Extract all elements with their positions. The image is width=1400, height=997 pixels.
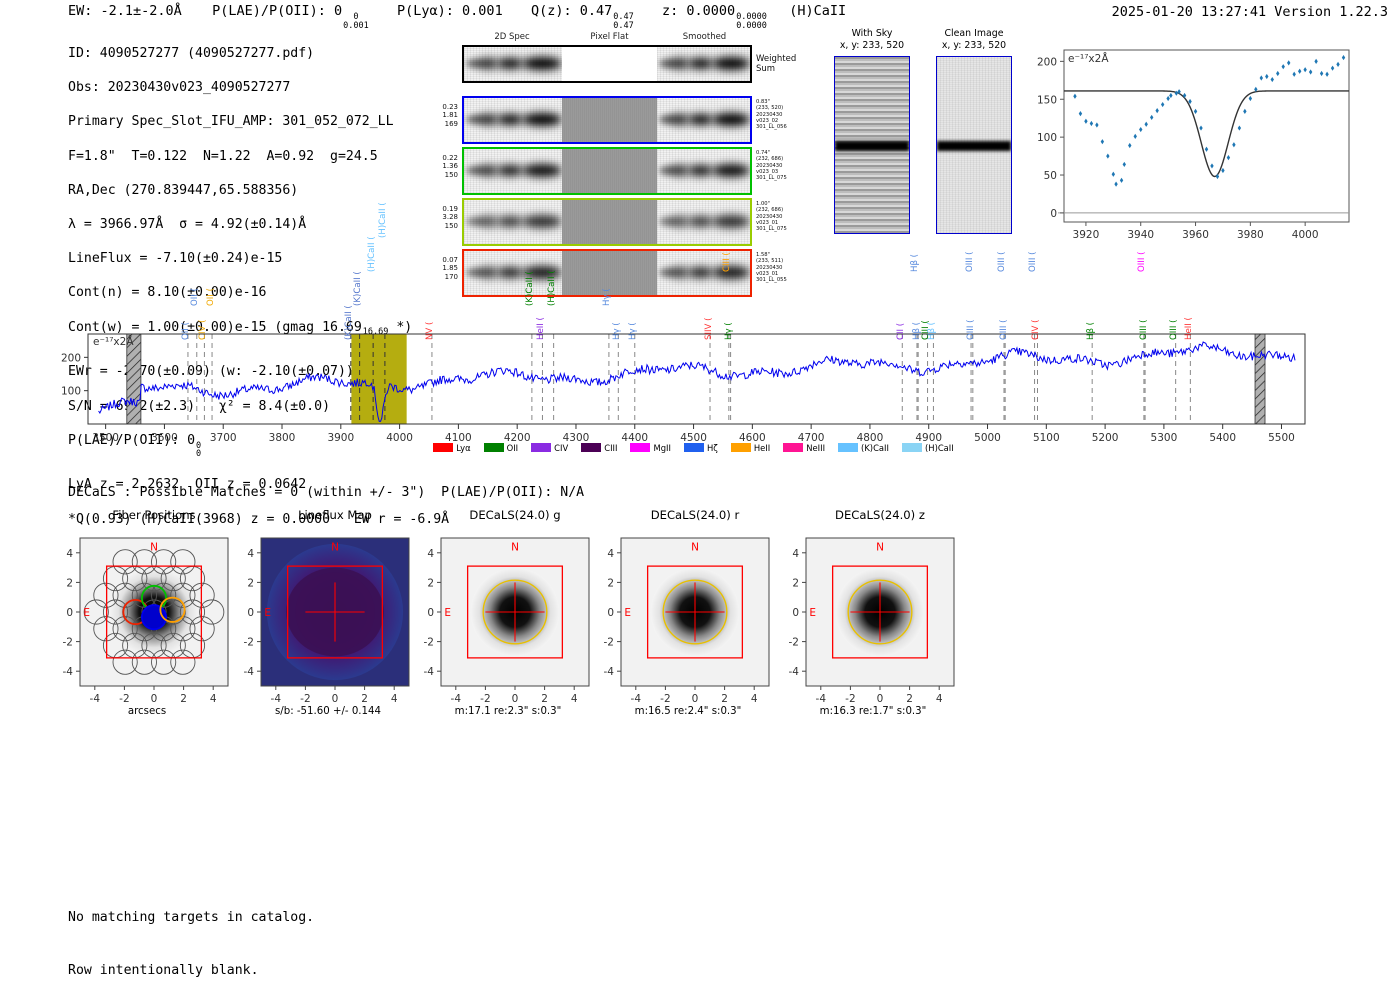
decals-xtick: 0 — [332, 693, 339, 705]
decals-ytick: 4 — [247, 548, 254, 560]
decals-panel-caption-3: m:16.5 re:2.4" s:0.3" — [591, 706, 785, 717]
linefit-ytick: 0 — [1050, 208, 1057, 220]
decals-ytick: -2 — [424, 637, 434, 649]
legend-label: Hζ — [707, 443, 718, 453]
spectrum-line-label: HeII ( — [536, 317, 546, 340]
legend-entry-8: (K)CaII — [838, 443, 889, 453]
spectrum-line-label: CII ( — [896, 323, 906, 340]
decals-panel-title-2: DECaLS(24.0) g — [425, 508, 605, 522]
decals-xtick: -2 — [845, 693, 855, 705]
spec-trace-blob — [478, 216, 498, 227]
decals-ytick: 4 — [792, 548, 799, 560]
legend-label: HeII — [754, 443, 770, 453]
decals-xtick: 0 — [151, 693, 158, 705]
decals-xtick: 4 — [210, 693, 217, 705]
decals-panel-title-3: DECaLS(24.0) r — [605, 508, 785, 522]
legend-label: (H)CaII — [925, 443, 954, 453]
linefit-xtick: 3920 — [1073, 229, 1100, 241]
plae-poii-label: P(LAE)/P(OII): — [212, 3, 326, 19]
compass-north: N — [876, 542, 884, 554]
legend-entry-0: Lyα — [433, 443, 470, 453]
decals-xtick: -2 — [300, 693, 310, 705]
spectrum-line-label: Hγ ( — [612, 322, 622, 340]
spec-trace-blob — [688, 216, 713, 227]
decals-panel-title-0: Fiber Positions — [64, 508, 244, 522]
spectrum-masked-band — [1255, 334, 1265, 424]
footer-line-2: Row intentionally blank. — [68, 962, 314, 980]
spec2d-row-1 — [462, 147, 752, 195]
decals-ytick: 0 — [427, 607, 434, 619]
legend-label: CIV — [554, 443, 568, 453]
legend-entry-4: MgII — [630, 443, 670, 453]
line-fit-plot: 39203940396039804000050100150200e⁻¹⁷x2Å — [1022, 32, 1357, 264]
decals-ytick: 2 — [607, 577, 614, 589]
linefit-xtick: 4000 — [1292, 229, 1319, 241]
decals-ytick: -4 — [63, 666, 74, 678]
decals-ytick: 2 — [792, 577, 799, 589]
legend-entry-3: CIII — [581, 443, 617, 453]
spec-trace-blob — [497, 114, 523, 125]
ew-summary: EW: -2.1±-2.0Å — [68, 3, 182, 19]
spectrum-trace — [99, 342, 1295, 421]
cutout-title-0: With Skyx, y: 233, 520 — [828, 28, 916, 51]
cutout-image-0 — [834, 56, 910, 234]
spec-trace-blob — [712, 164, 750, 177]
decals-xtick: -4 — [816, 693, 827, 705]
spec-trace-blob — [497, 58, 523, 69]
decals-panel-1-svg: NE-4-4-2-2002244 — [231, 534, 425, 728]
decals-panel-caption-2: m:17.1 re:2.3" s:0.3" — [411, 706, 605, 717]
compass-north: N — [691, 542, 699, 554]
legend-swatch-MgII — [630, 443, 650, 452]
spectrum-line-label: SIIV ( — [704, 318, 714, 341]
decals-ytick: 2 — [427, 577, 434, 589]
qz-label: Q(z): 0.47 — [531, 3, 612, 19]
decals-panel-4: NE-4-4-2-2002244 — [776, 534, 970, 732]
spectrum-line-label: CIII ( — [722, 252, 732, 272]
spectrum-line-label: (K)CaII ( — [353, 271, 363, 306]
spectrum-line-label: OIII ( — [1028, 252, 1038, 272]
spectrum-units: e⁻¹⁷x2Å — [93, 335, 134, 348]
legend-label: Lyα — [456, 443, 470, 453]
info-line-2: Primary Spec_Slot_IFU_AMP: 301_052_072_L… — [68, 113, 449, 130]
spec-trace-blob — [670, 216, 689, 227]
spectrum-line-label: (H)CaII ( — [378, 202, 388, 238]
spec-trace-blob — [712, 57, 750, 70]
legend-swatch-OII — [484, 443, 504, 452]
decals-ytick: -2 — [789, 637, 799, 649]
linefit-units: e⁻¹⁷x2Å — [1068, 52, 1109, 65]
decals-xtick: -4 — [451, 693, 462, 705]
spec-trace-blob — [522, 113, 562, 126]
decals-panel-0-svg: NE-4-4-2-2002244 — [50, 534, 244, 728]
legend-entry-6: HeII — [731, 443, 770, 453]
legend-swatch-Lyα — [433, 443, 453, 452]
spectrum-line-label: OII ( — [190, 288, 200, 306]
decals-ytick: 0 — [247, 607, 254, 619]
info-line-1: Obs: 20230430v023_4090527277 — [68, 79, 449, 96]
plae-poii-value: 0 — [334, 3, 342, 19]
qz-sub: 0.47 — [613, 22, 633, 31]
compass-east: E — [624, 607, 631, 619]
decals-ytick: -4 — [244, 666, 255, 678]
line-name: (H)CaII — [789, 3, 846, 19]
spec-trace-blob — [670, 114, 689, 125]
legend-swatch-(H)CaII — [902, 443, 922, 452]
spec2d-col-title-2: Smoothed — [657, 32, 752, 42]
compass-east: E — [264, 607, 271, 619]
spec-trace-blob — [522, 57, 562, 70]
linefit-ytick: 150 — [1037, 94, 1057, 106]
legend-entry-9: (H)CaII — [902, 443, 954, 453]
decals-ytick: 2 — [66, 577, 73, 589]
spectrum-line-label: OIII ( — [1139, 320, 1149, 340]
spectrum-line-label: OIII ( — [1169, 320, 1179, 340]
decals-xtick: 2 — [361, 693, 368, 705]
compass-north: N — [150, 542, 158, 554]
decals-ytick: 2 — [247, 577, 254, 589]
line-fit-svg: 39203940396039804000050100150200e⁻¹⁷x2Å — [1022, 32, 1357, 260]
spec-trace-blob — [712, 113, 750, 126]
legend-label: OII — [507, 443, 519, 453]
linefit-ytick: 200 — [1037, 56, 1057, 68]
decals-ytick: 4 — [427, 548, 434, 560]
decals-panel-caption-1: s/b: -51.60 +/- 0.144 — [231, 706, 425, 717]
decals-ytick: 0 — [66, 607, 73, 619]
decals-ytick: -2 — [63, 637, 73, 649]
spectrum-ytick: 200 — [61, 352, 81, 364]
spec2d-weighted-sum-row — [462, 45, 752, 83]
spec2d-row-1-values: 0.221.36150 — [426, 154, 458, 179]
cutout-title-1: Clean Imagex, y: 233, 520 — [930, 28, 1018, 51]
spec-trace-blob — [712, 215, 750, 228]
spectrum-line-label: (H)CaII ( — [367, 236, 377, 272]
decals-ytick: 0 — [607, 607, 614, 619]
footer-note: No matching targets in catalog. Row inte… — [68, 874, 314, 997]
spectrum-line-label: Hγ ( — [628, 322, 638, 340]
legend-label: (K)CaII — [861, 443, 889, 453]
summary-line: EW: -2.1±-2.0Å P(LAE)/P(OII): 000.001 P(… — [68, 3, 846, 31]
timestamp: 2025-01-20 13:27:41 Version 1.22.3 — [1112, 4, 1388, 20]
legend-entry-7: NeIII — [783, 443, 825, 453]
decals-xtick: -2 — [660, 693, 670, 705]
decals-xtick: 0 — [692, 693, 699, 705]
spectrum-ytick: 100 — [61, 386, 81, 398]
decals-panel-0: NE-4-4-2-2002244 — [50, 534, 244, 732]
legend-label: MgII — [653, 443, 670, 453]
z-sub: 0.0000 — [736, 22, 767, 31]
z-label: z: 0.0000 — [662, 3, 735, 19]
spec2d-row-0-values: 0.231.81169 — [426, 103, 458, 128]
decals-ytick: 0 — [792, 607, 799, 619]
decals-xtick: 4 — [751, 693, 758, 705]
weighted-sum-label: Weighted Sum — [756, 54, 796, 74]
spec-trace-blob — [670, 58, 689, 69]
spec2d-row-2 — [462, 198, 752, 246]
legend-swatch-NeIII — [783, 443, 803, 452]
spectrum-line-label: Hγ ( — [724, 322, 734, 340]
decals-panel-1: NE-4-4-2-2002244 — [231, 534, 425, 732]
spec-trace-blob — [688, 165, 713, 176]
spec2d-row-0-info: 0.83" (233, 520) 20230430 v023_02 301_LL… — [756, 99, 787, 130]
cutout-trace-band — [937, 141, 1011, 151]
spectrum-line-label: OIII ( — [965, 252, 975, 272]
spec2d-col-title-0: 2D Spec — [462, 32, 562, 42]
decals-panel-title-4: DECaLS(24.0) z — [790, 508, 970, 522]
decals-ytick: -4 — [604, 666, 615, 678]
legend-label: CIII — [604, 443, 617, 453]
spec-trace-blob — [688, 58, 713, 69]
spectrum-legend: LyαOIICIVCIIIMgIIHζHeIINeIII(K)CaII(H)Ca… — [0, 443, 1400, 453]
legend-swatch-Hζ — [684, 443, 704, 452]
decals-ytick: -4 — [789, 666, 800, 678]
legend-label: NeIII — [806, 443, 825, 453]
spectrum-line-label: Hβ ( — [910, 254, 920, 272]
decals-xtick: 4 — [391, 693, 398, 705]
decals-xtick: -4 — [90, 693, 101, 705]
compass-north: N — [511, 542, 519, 554]
decals-xtick: 2 — [541, 693, 548, 705]
spectrum-line-label: OII ( — [181, 322, 191, 340]
decals-xtick: -2 — [119, 693, 129, 705]
decals-panel-title-1: Lineflux Map — [245, 508, 425, 522]
decals-xtick: -4 — [271, 693, 282, 705]
spectrum-line-label: HeII ( — [1184, 317, 1194, 340]
spectrum-line-label: OIII ( — [1137, 252, 1147, 272]
spec-trace-blob — [688, 114, 713, 125]
spec2d-row-2-info: 1.00" (232, 686) 20230430 v023_01 301_LL… — [756, 201, 787, 232]
linefit-ytick: 100 — [1037, 132, 1057, 144]
spectrum-line-label: (K)CaII ( — [525, 271, 535, 306]
footer-line-1: No matching targets in catalog. — [68, 909, 314, 927]
spec2d-row-1-info: 0.74" (232, 686) 20230430 v023_03 301_LL… — [756, 150, 787, 181]
compass-east: E — [809, 607, 816, 619]
decals-ytick: -2 — [244, 637, 254, 649]
decals-xtick: 0 — [512, 693, 519, 705]
spec-trace-blob — [522, 164, 562, 177]
spec2d-row-0 — [462, 96, 752, 144]
spectrum-line-label: (K)CaII ( — [344, 305, 354, 340]
legend-entry-2: CIV — [531, 443, 568, 453]
compass-north: N — [331, 542, 339, 554]
decals-header: DECaLS : Possible Matches = 0 (within +/… — [68, 485, 584, 500]
decals-xtick: 4 — [571, 693, 578, 705]
decals-ytick: 4 — [607, 548, 614, 560]
spec-trace-blob — [670, 165, 689, 176]
decals-panel-caption-0: arcsecs — [50, 706, 244, 717]
decals-xtick: -4 — [631, 693, 642, 705]
decals-panel-3: NE-4-4-2-2002244 — [591, 534, 785, 732]
spectrum-line-label: Hβ ( — [927, 322, 937, 340]
decals-xtick: 4 — [936, 693, 943, 705]
decals-panel-2-svg: NE-4-4-2-2002244 — [411, 534, 605, 728]
spectrum-line-label: (H)CaII ( — [547, 270, 557, 306]
spec2d-row-2-values: 0.193.28150 — [426, 205, 458, 230]
compass-east: E — [83, 607, 90, 619]
spec2d-col-title-1: Pixel Flat — [562, 32, 657, 42]
spectrum-line-label: OII ( — [206, 288, 216, 306]
spectrum-line-label: Hγ ( — [602, 288, 612, 306]
info-line-3: F=1.8" T=0.122 N=1.22 A=0.92 g=24.5 — [68, 148, 449, 165]
cutout-image-1 — [936, 56, 1012, 234]
decals-xtick: 2 — [906, 693, 913, 705]
spectrum-line-label: NV ( — [425, 322, 435, 340]
spectrum-line-label: OIII ( — [997, 252, 1007, 272]
legend-entry-5: Hζ — [684, 443, 718, 453]
linefit-xtick: 3960 — [1182, 229, 1209, 241]
spec-trace-blob — [478, 165, 498, 176]
info-line-0: ID: 4090527277 (4090527277.pdf) — [68, 45, 449, 62]
legend-swatch-CIII — [581, 443, 601, 452]
decals-panel-3-svg: NE-4-4-2-2002244 — [591, 534, 785, 728]
spec-trace-blob — [478, 58, 498, 69]
spectrum-line-label: OIII ( — [966, 320, 976, 340]
legend-swatch-HeII — [731, 443, 751, 452]
plya-label: P(Lyα): 0.001 — [397, 3, 503, 19]
decals-xtick: 0 — [877, 693, 884, 705]
linefit-xtick: 3980 — [1237, 229, 1264, 241]
full-spectrum-plot: 100200e⁻¹⁷x2Å350036003700380039004000410… — [0, 262, 1400, 466]
spec-trace-blob — [478, 114, 498, 125]
info-line-4: RA,Dec (270.839447,65.588356) — [68, 182, 449, 199]
spectrum-line-label: CIV ( — [198, 320, 208, 341]
decals-panel-2: NE-4-4-2-2002244 — [411, 534, 605, 732]
spectrum-line-label: CIV ( — [1031, 320, 1041, 341]
info-line-5: λ = 3966.97Å σ = 4.92(±0.14)Å — [68, 216, 449, 233]
decals-xtick: 2 — [721, 693, 728, 705]
spec-trace-blob — [497, 165, 523, 176]
spec-trace-blob — [497, 216, 523, 227]
linefit-ytick: 50 — [1044, 170, 1057, 182]
decals-ytick: -2 — [604, 637, 614, 649]
cutout-trace-band — [835, 141, 909, 151]
decals-panel-caption-4: m:16.3 re:1.7" s:0.3" — [776, 706, 970, 717]
decals-panel-4-svg: NE-4-4-2-2002244 — [776, 534, 970, 728]
spec-trace-blob — [522, 215, 562, 228]
decals-ytick: 4 — [66, 548, 73, 560]
legend-swatch-CIV — [531, 443, 551, 452]
spectrum-line-label: Hβ ( — [1086, 322, 1096, 340]
decals-xtick: 2 — [180, 693, 187, 705]
legend-entry-1: OII — [484, 443, 519, 453]
decals-ytick: -4 — [424, 666, 435, 678]
spectrum-line-label: OIII ( — [999, 320, 1009, 340]
legend-swatch-(K)CaII — [838, 443, 858, 452]
compass-east: E — [444, 607, 451, 619]
decals-xtick: -2 — [480, 693, 490, 705]
linefit-xtick: 3940 — [1127, 229, 1154, 241]
